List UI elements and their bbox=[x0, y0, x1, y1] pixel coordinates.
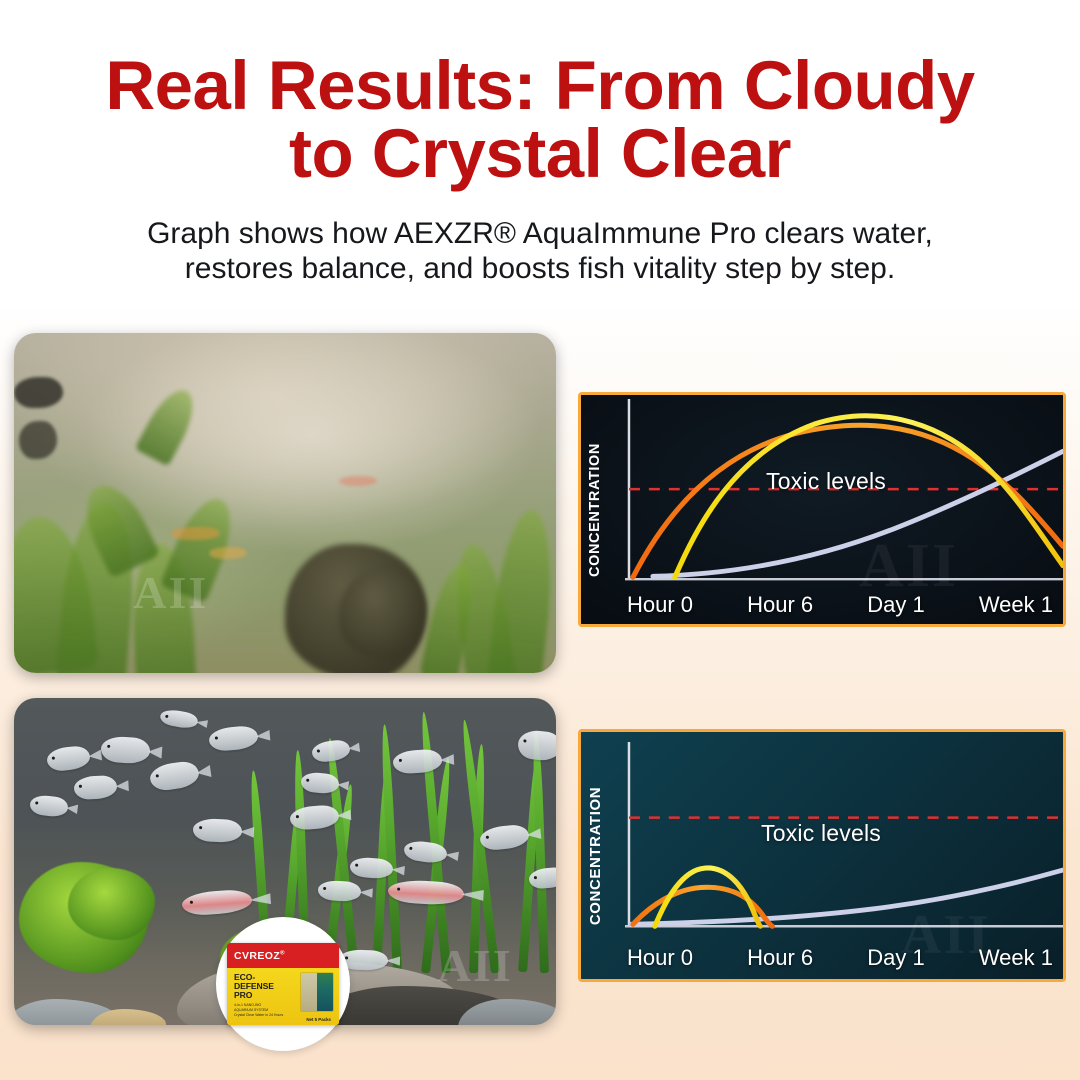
toxic-levels-label: Toxic levels bbox=[766, 468, 886, 495]
window-murky-half bbox=[301, 973, 317, 1011]
y-axis-label: CONCENTRATION bbox=[587, 443, 603, 577]
product-body: ECO-DEFENSE PRO 4-in-1 NANO-BIO AQUARIUM… bbox=[227, 968, 339, 1025]
fish-silhouette bbox=[19, 421, 57, 458]
tetra-fish bbox=[73, 775, 117, 800]
tetra-fish bbox=[393, 749, 443, 774]
x-tick-day-1: Day 1 bbox=[867, 945, 924, 971]
tetra-fish bbox=[45, 745, 91, 772]
product-name-line2: PRO bbox=[234, 991, 294, 1000]
product-sub-line3: Crystal Clear Water in 24 Hours bbox=[234, 1013, 290, 1018]
chart-after-x-axis: Hour 0 Hour 6 Day 1 Week 1 bbox=[625, 945, 1059, 971]
tetra-fish bbox=[29, 794, 69, 818]
chart-before-x-axis: Hour 0 Hour 6 Day 1 Week 1 bbox=[625, 592, 1059, 618]
chart-after-treatment: CONCENTRATION bbox=[578, 729, 1066, 982]
registered-mark-icon: ® bbox=[280, 950, 285, 956]
page-subtitle: Graph shows how AEXZR® AquaImmune Pro cl… bbox=[0, 217, 1080, 287]
y-axis-label: CONCENTRATION bbox=[587, 786, 604, 924]
tetra-fish bbox=[159, 708, 199, 731]
tetra-fish bbox=[517, 729, 556, 763]
cloudy-water-scene: AII bbox=[14, 333, 556, 673]
rummy-nose-tetra bbox=[181, 888, 253, 916]
tetra-fish bbox=[317, 880, 362, 903]
toxic-levels-label: Toxic levels bbox=[761, 820, 881, 847]
product-name: ECO-DEFENSE PRO bbox=[234, 973, 294, 1000]
x-tick-week-1: Week 1 bbox=[979, 592, 1053, 618]
series-nitrite-line bbox=[675, 416, 1063, 577]
chart-before-plot-background: CONCENTRATION bbox=[581, 395, 1063, 624]
tetra-fish bbox=[192, 818, 242, 843]
series-ammonia-line bbox=[633, 425, 1063, 577]
content-grid: AII bbox=[0, 330, 1080, 1030]
cloudy-aquarium-before-photo: AII bbox=[14, 333, 556, 673]
product-window-image bbox=[300, 972, 334, 1012]
chart-after-plot-background: CONCENTRATION bbox=[581, 732, 1063, 979]
tetra-fish bbox=[148, 760, 200, 793]
tetra-fish bbox=[311, 738, 351, 762]
x-tick-hour-6: Hour 6 bbox=[747, 945, 813, 971]
product-package: CVREOZ® ECO-DEFENSE PRO 4-in-1 NANO-BIO … bbox=[227, 943, 339, 1025]
x-tick-week-1: Week 1 bbox=[979, 945, 1053, 971]
rummy-nose-tetra bbox=[387, 879, 464, 906]
page-title-line2: to Crystal Clear bbox=[40, 120, 1040, 188]
product-brand-name: CVREOZ® bbox=[234, 950, 285, 962]
page-subtitle-line1: Graph shows how AEXZR® AquaImmune Pro cl… bbox=[147, 217, 933, 250]
tetra-fish bbox=[479, 823, 530, 851]
x-tick-hour-0: Hour 0 bbox=[627, 592, 693, 618]
header: Real Results: From Cloudy to Crystal Cle… bbox=[0, 0, 1080, 287]
tetra-fish bbox=[208, 725, 259, 752]
fish-silhouette bbox=[14, 377, 63, 408]
chart-before-treatment: CONCENTRATION bbox=[578, 392, 1066, 627]
x-tick-hour-6: Hour 6 bbox=[747, 592, 813, 618]
product-badge[interactable]: CVREOZ® ECO-DEFENSE PRO 4-in-1 NANO-BIO … bbox=[216, 917, 350, 1051]
page-title-line1: Real Results: From Cloudy bbox=[105, 47, 974, 124]
driftwood-rock bbox=[339, 571, 426, 659]
bush-plant bbox=[68, 868, 155, 940]
x-tick-hour-0: Hour 0 bbox=[627, 945, 693, 971]
product-brand-bar: CVREOZ® bbox=[227, 943, 339, 968]
tetra-fish bbox=[100, 736, 150, 765]
page-subtitle-line2: restores balance, and boosts fish vitali… bbox=[48, 252, 1032, 287]
fish-silhouette bbox=[209, 547, 247, 559]
series-nitrate-line bbox=[631, 870, 1063, 924]
fish-silhouette bbox=[339, 476, 377, 486]
product-name-line1: ECO-DEFENSE bbox=[234, 973, 294, 991]
product-net-quantity: Net 5 Packs bbox=[306, 1017, 331, 1022]
page-title: Real Results: From Cloudy to Crystal Cle… bbox=[0, 52, 1080, 187]
x-tick-day-1: Day 1 bbox=[867, 592, 924, 618]
window-clear-half bbox=[317, 973, 333, 1011]
product-description: 4-in-1 NANO-BIO AQUARIUM SYSTEM Crystal … bbox=[234, 1003, 290, 1018]
